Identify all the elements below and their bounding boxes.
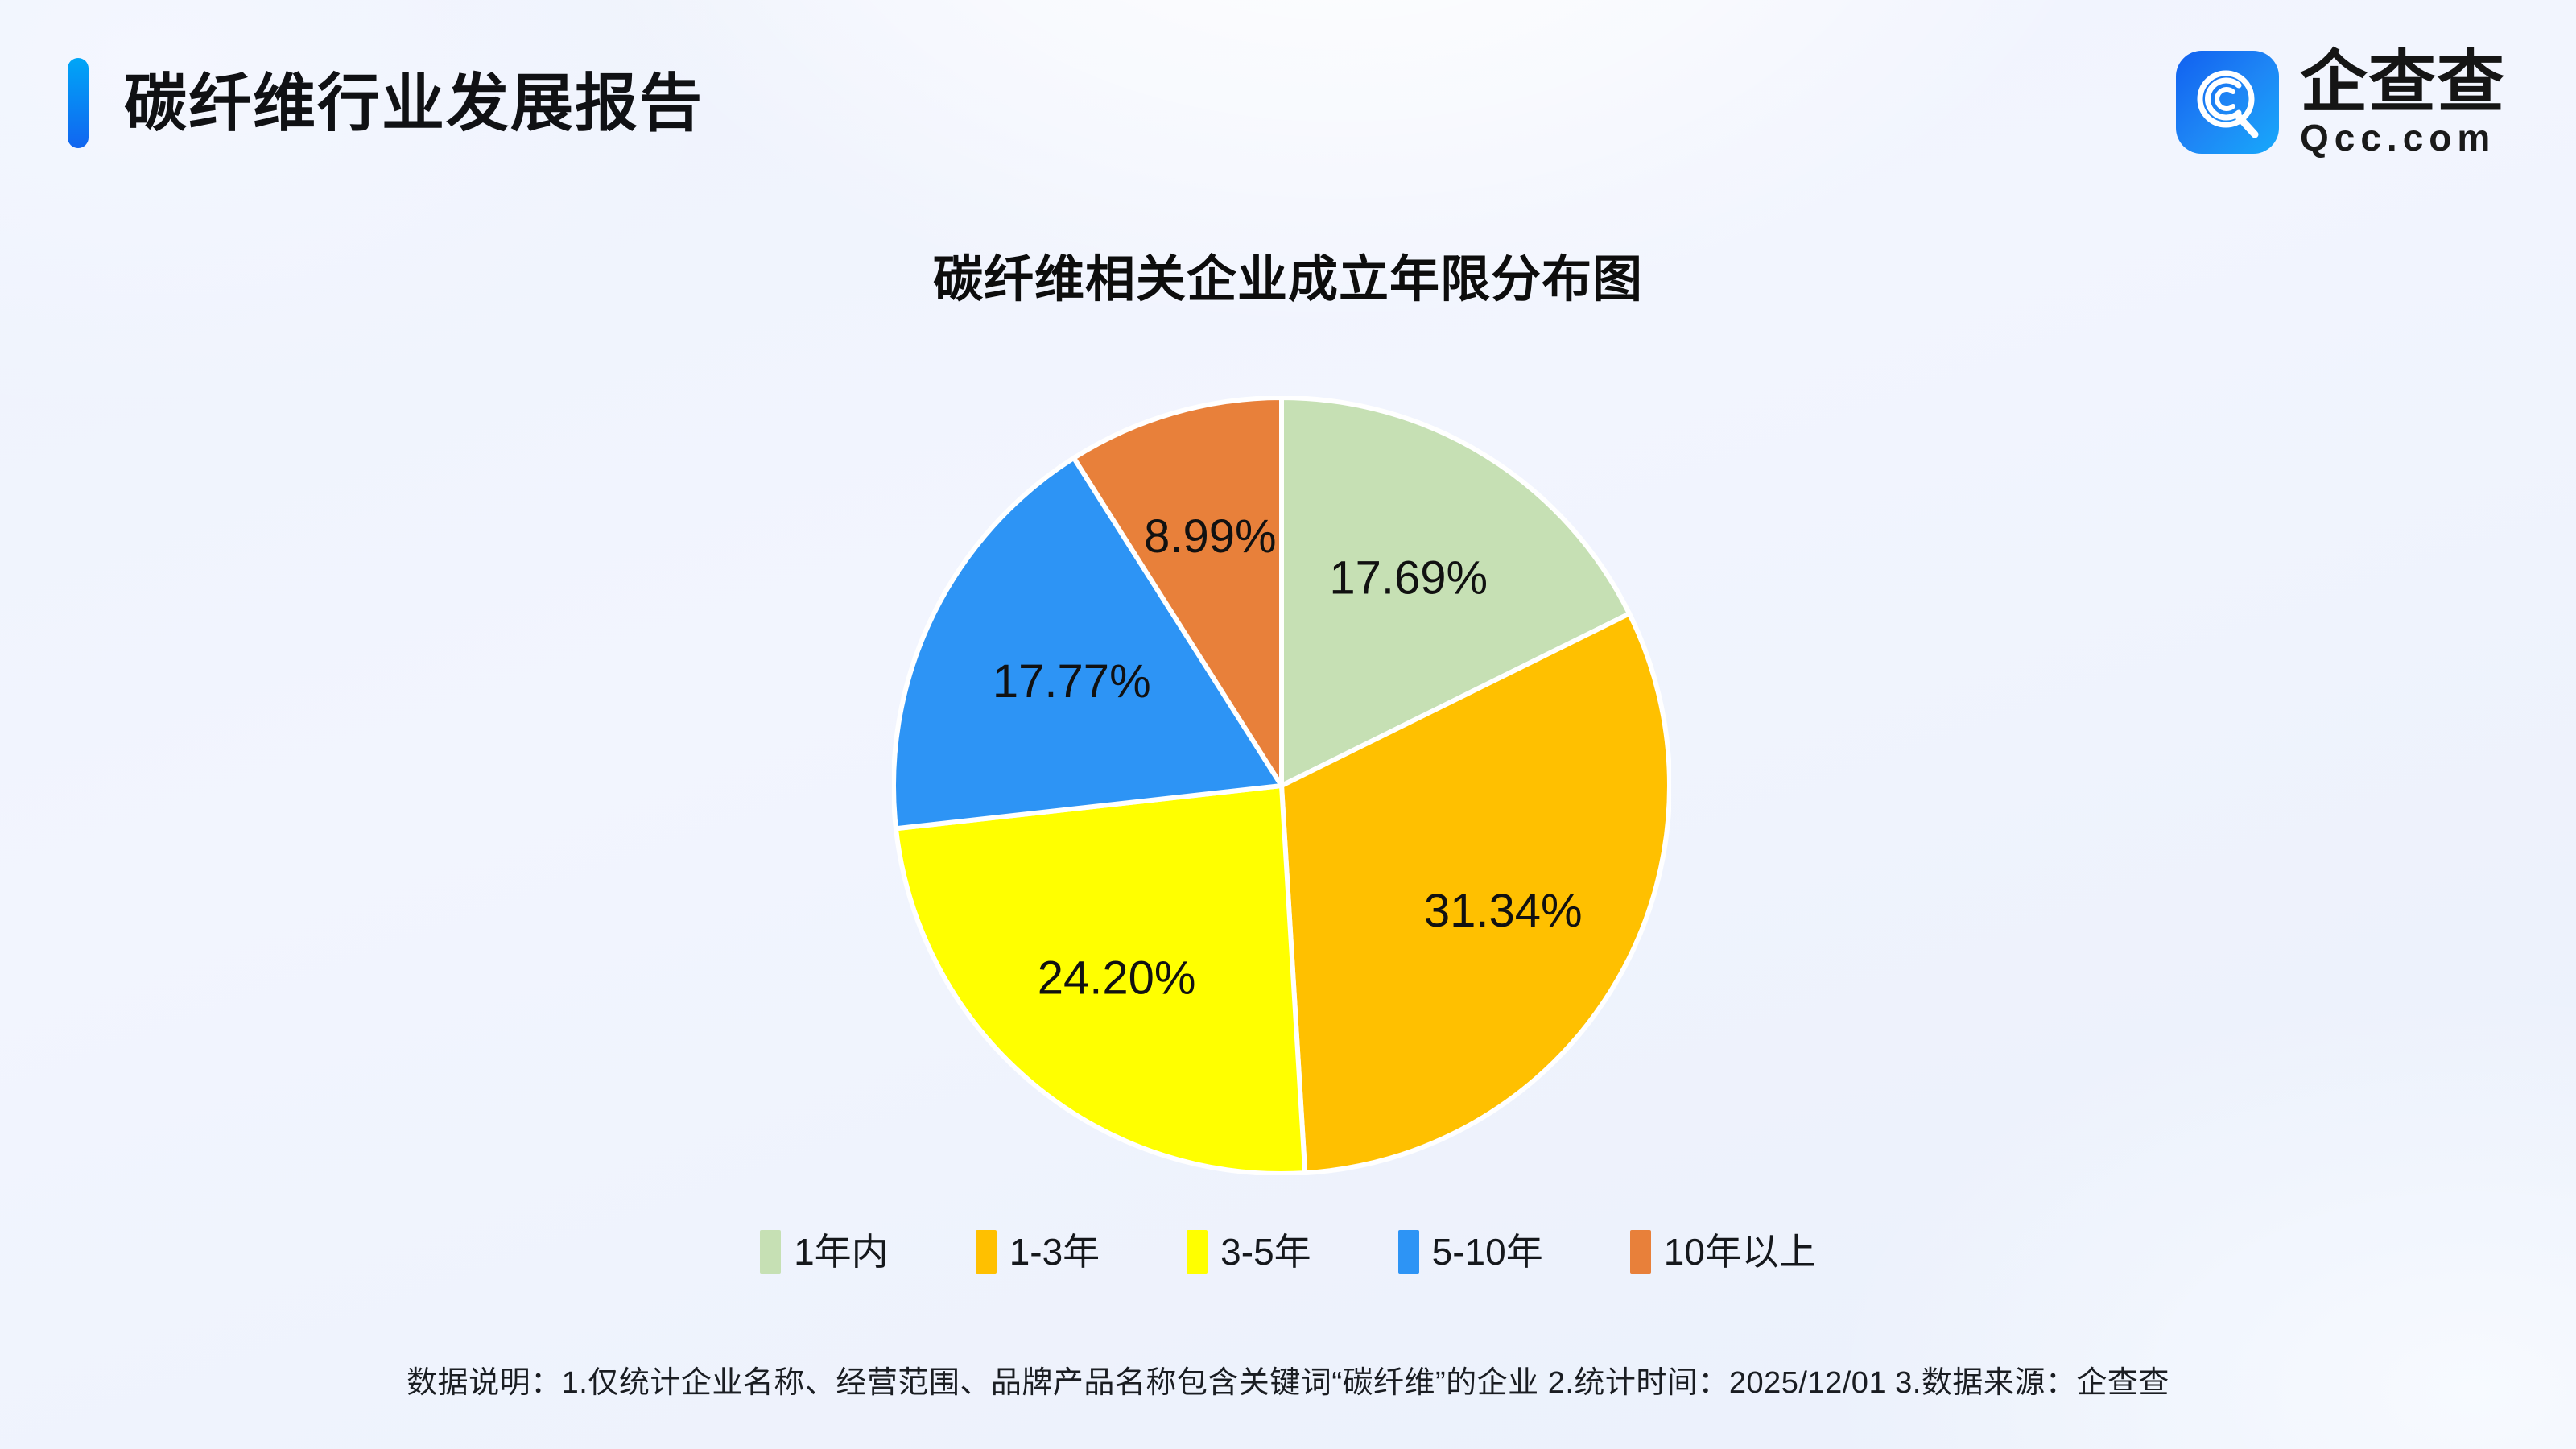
- legend-swatch-icon: [1630, 1230, 1651, 1274]
- legend-swatch-icon: [760, 1230, 781, 1274]
- footer-note: 数据说明：1.仅统计企业名称、经营范围、品牌产品名称包含关键词“碳纤维”的企业 …: [0, 1357, 2576, 1402]
- title-accent-bar: [68, 58, 89, 148]
- chart-title: 碳纤维相关企业成立年限分布图: [0, 238, 2576, 311]
- brand-name-en: Qcc.com: [2300, 119, 2495, 156]
- pie-slice-label: 8.99%: [1144, 510, 1276, 563]
- pie-slice-label: 24.20%: [1038, 952, 1196, 1005]
- pie-slice-label: 17.69%: [1329, 551, 1488, 604]
- legend-item-label: 1年内: [794, 1233, 889, 1270]
- pie-chart: 17.69%31.34%24.20%17.77%8.99%: [892, 396, 1671, 1175]
- pie-slice-label: 17.77%: [993, 655, 1151, 708]
- legend-item[interactable]: 1年内: [760, 1230, 889, 1274]
- legend-item[interactable]: 1-3年: [976, 1230, 1100, 1274]
- pie-slice-label: 31.34%: [1424, 885, 1583, 937]
- chart-legend: 1年内1-3年3-5年5-10年10年以上: [0, 1230, 2576, 1274]
- legend-swatch-icon: [1398, 1230, 1419, 1274]
- page-header: 碳纤维行业发展报告 企查查 Qcc.com: [0, 0, 2576, 201]
- pie-chart-svg: 17.69%31.34%24.20%17.77%8.99%: [892, 396, 1671, 1175]
- legend-item[interactable]: 5-10年: [1398, 1230, 1543, 1274]
- legend-item-label: 10年以上: [1664, 1233, 1816, 1270]
- qcc-logo-icon: [2176, 51, 2279, 154]
- legend-item-label: 3-5年: [1220, 1233, 1311, 1270]
- pie-slice-group: [894, 398, 1670, 1174]
- brand-logo[interactable]: 企查查 Qcc.com: [2176, 48, 2505, 156]
- brand-name-cn: 企查查: [2300, 48, 2505, 118]
- legend-swatch-icon: [1187, 1230, 1207, 1274]
- legend-swatch-icon: [976, 1230, 997, 1274]
- page-title: 碳纤维行业发展报告: [124, 72, 704, 134]
- legend-item-label: 5-10年: [1432, 1233, 1543, 1270]
- legend-item[interactable]: 3-5年: [1187, 1230, 1311, 1274]
- report-title-group: 碳纤维行业发展报告: [68, 58, 704, 148]
- report-page: 碳纤维行业发展报告 企查查 Qcc.com 碳纤维: [0, 0, 2576, 1449]
- brand-wordmark: 企查查 Qcc.com: [2300, 48, 2505, 156]
- legend-item[interactable]: 10年以上: [1630, 1230, 1816, 1274]
- legend-item-label: 1-3年: [1009, 1233, 1100, 1270]
